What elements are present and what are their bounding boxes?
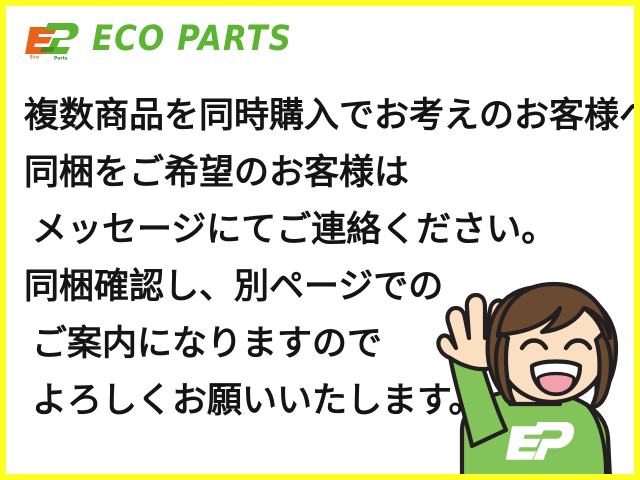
svg-text:Parts: Parts	[54, 56, 68, 60]
message-line-5: ご案内になりますので	[24, 316, 624, 373]
message-line-3: メッセージにてご連絡ください。	[24, 202, 624, 259]
message-line-6: よろしくお願いいたします。	[24, 373, 624, 430]
eco-parts-notice-banner: Eco Parts ECO PARTS 複数商品を同時購入でお考えのお客様へ 同…	[0, 0, 640, 480]
message-line-1: 複数商品を同時購入でお考えのお客様へ	[24, 88, 624, 145]
message-line-2: 同梱をご希望のお客様は	[24, 145, 624, 202]
notice-message: 複数商品を同時購入でお考えのお客様へ 同梱をご希望のお客様は メッセージにてご連…	[24, 88, 624, 430]
svg-text:Eco: Eco	[30, 54, 39, 60]
brand-wordmark: ECO PARTS	[92, 22, 292, 57]
message-line-4: 同梱確認し、別ページでの	[24, 259, 624, 316]
brand-logo: Eco Parts ECO PARTS	[24, 14, 292, 64]
eco-parts-ep-monogram-icon: Eco Parts	[24, 18, 82, 60]
